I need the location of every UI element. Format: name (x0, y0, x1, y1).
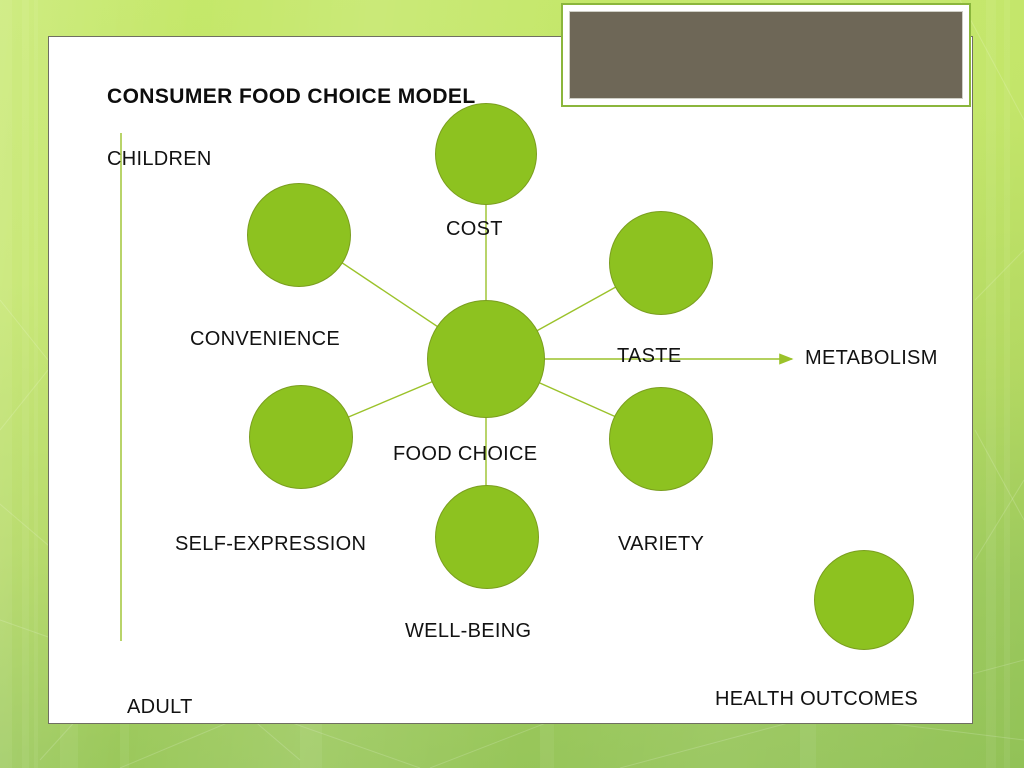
node-circle-well-being[interactable] (435, 485, 539, 589)
node-label-cost: COST (446, 218, 503, 241)
top-media-placeholder[interactable] (561, 3, 971, 107)
node-label-health-outcomes: HEALTH OUTCOMES (715, 688, 918, 711)
node-circle-convenience[interactable] (247, 183, 351, 287)
slide-root: CONSUMER FOOD CHOICE MODEL CHILDREN ADUL… (0, 0, 1024, 768)
node-circle-health-outcomes[interactable] (814, 550, 914, 650)
node-circle-food-choice[interactable] (427, 300, 545, 418)
node-circle-self-expression[interactable] (249, 385, 353, 489)
axis-label-adult: ADULT (127, 696, 193, 719)
node-circle-taste[interactable] (609, 211, 713, 315)
node-label-variety: VARIETY (618, 533, 704, 556)
node-circle-cost[interactable] (435, 103, 537, 205)
node-label-convenience: CONVENIENCE (190, 328, 340, 351)
slide-canvas: CONSUMER FOOD CHOICE MODEL CHILDREN ADUL… (48, 36, 973, 724)
axis-label-children: CHILDREN (107, 148, 212, 171)
node-label-metabolism: METABOLISM (805, 347, 938, 370)
node-label-food-choice: FOOD CHOICE (393, 443, 537, 466)
node-circle-variety[interactable] (609, 387, 713, 491)
node-label-taste: TASTE (617, 345, 681, 368)
top-media-placeholder-fill (569, 11, 963, 99)
node-label-self-expression: SELF-EXPRESSION (175, 533, 366, 556)
page-title: CONSUMER FOOD CHOICE MODEL (107, 85, 476, 109)
node-label-well-being: WELL-BEING (405, 620, 531, 643)
